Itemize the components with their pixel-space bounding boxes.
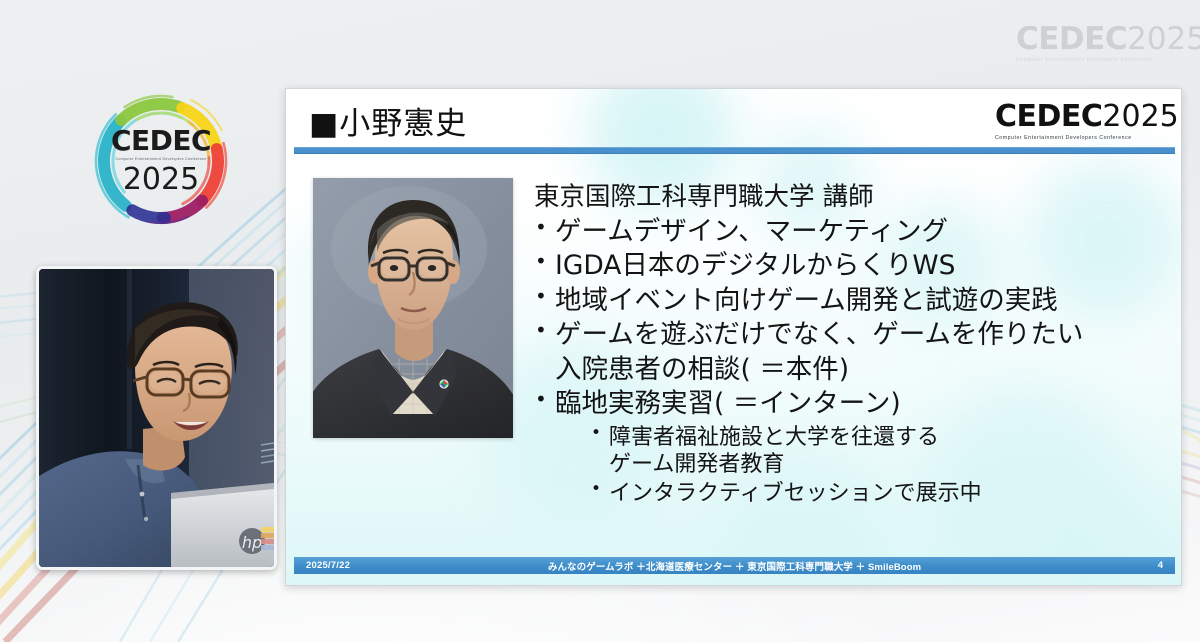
- bullet-item: IGDA日本のデジタルからくりWS: [534, 249, 1170, 283]
- watermark-tagline: Computer Entertainment Developers Confer…: [1016, 57, 1192, 63]
- slide-title: ■小野憲史: [309, 98, 467, 143]
- bullet-line: 臨地実務実習( ＝インターン): [551, 387, 1170, 421]
- sub-bullet-item: 障害者福祉施設と大学を往還する ゲーム開発者教育: [591, 424, 1170, 480]
- bullet-item: 臨地実務実習( ＝インターン) 障害者福祉施設と大学を往還する ゲーム開発者教育…: [534, 387, 1170, 508]
- watermark-year-text: 2025: [1127, 21, 1200, 57]
- logo-swirl-ring: [88, 88, 234, 234]
- body-lead-line: 東京国際工科専門職大学 講師: [534, 181, 1170, 215]
- watermark-wordmark: CEDEC2025: [1016, 24, 1192, 55]
- bullet-line: ゲームを遊ぶだけでなく、ゲームを作りたい: [551, 318, 1170, 352]
- bullet-item: 地域イベント向けゲーム開発と試遊の実践: [534, 284, 1170, 318]
- footer-organizations: みんなのゲームラボ ＋北海道医療センター ＋ 東京国際工科専門職大学 ＋ Smi…: [294, 559, 1175, 573]
- speaker-portrait-photo: [313, 178, 513, 438]
- speaker-webcam-inset[interactable]: hp: [36, 266, 277, 570]
- slide-logo-brand-text: CEDEC: [995, 99, 1102, 134]
- slide-footer-bar: 2025/7/22 みんなのゲームラボ ＋北海道医療センター ＋ 東京国際工科専…: [294, 557, 1175, 574]
- bullet-line: IGDA日本のデジタルからくりWS: [551, 249, 1170, 283]
- slide-header: ■小野憲史 CEDEC2025 Computer Entertainment D…: [286, 89, 1181, 151]
- cedec-2025-watermark-logo: CEDEC2025 Computer Entertainment Develop…: [1016, 24, 1192, 62]
- svg-text:hp: hp: [242, 533, 262, 552]
- portrait-image: [313, 178, 513, 438]
- sub-bullet-item: インタラクティブセッションで展示中: [591, 480, 1170, 508]
- footer-page-number: 4: [1158, 560, 1163, 571]
- sub-bullet-line: 障害者福祉施設と大学を往還する: [606, 424, 1170, 452]
- bullet-sublist: 障害者福祉施設と大学を往還する ゲーム開発者教育 インタラクティブセッションで展…: [591, 424, 1170, 509]
- slide-logo-tagline: Computer Entertainment Developers Confer…: [995, 135, 1167, 141]
- bullet-line: ゲームデザイン、マーケティング: [551, 215, 1170, 249]
- sub-bullet-line: インタラクティブセッションで展示中: [606, 480, 1170, 508]
- cedec-2025-circular-logo: CEDEC Computer Entertainment Developers …: [88, 88, 234, 234]
- bullet-line: 地域イベント向けゲーム開発と試遊の実践: [551, 284, 1170, 318]
- bullet-item: ゲームを遊ぶだけでなく、ゲームを作りたい 入院患者の相談( ＝本件): [534, 318, 1170, 387]
- webcam-video-frame: hp: [39, 269, 274, 567]
- slide-logo-wordmark: CEDEC2025: [995, 102, 1167, 132]
- slide-body-content: 東京国際工科専門職大学 講師 ゲームデザイン、マーケティング IGDA日本のデジ…: [534, 181, 1170, 508]
- bullet-item: ゲームデザイン、マーケティング: [534, 215, 1170, 249]
- slide-cedec-logo: CEDEC2025 Computer Entertainment Develop…: [995, 101, 1167, 141]
- presentation-slide: ■小野憲史 CEDEC2025 Computer Entertainment D…: [285, 88, 1182, 586]
- title-divider-rule: [294, 147, 1175, 154]
- slide-logo-year-text: 2025: [1102, 99, 1178, 134]
- sub-bullet-line: ゲーム開発者教育: [606, 451, 1170, 479]
- bullet-line: 入院患者の相談( ＝本件): [551, 353, 1170, 387]
- watermark-brand-text: CEDEC: [1016, 21, 1127, 57]
